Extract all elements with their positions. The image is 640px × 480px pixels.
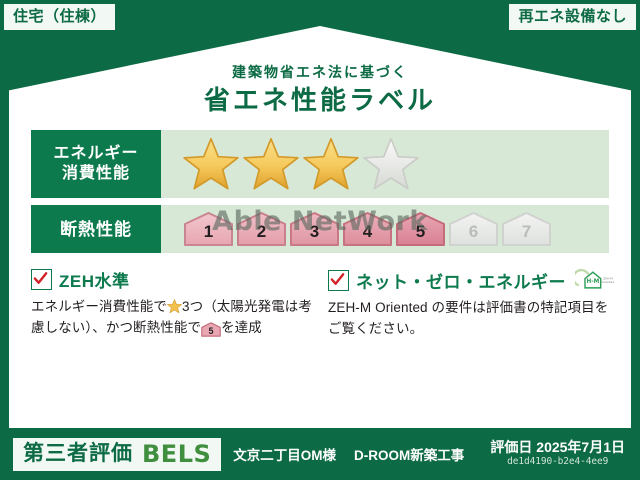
- net-zero-energy-body: ZEH-M Oriented の要件は評価書の特記項目をご覧ください。: [328, 298, 609, 339]
- footer-evaluation-id: de1d4190-b2e4-4ee9: [490, 456, 625, 468]
- star-icon-filled-3: [303, 137, 359, 191]
- zeh-body-part3: を達成: [221, 320, 262, 335]
- building-type-tag: 住宅（住棟）: [4, 4, 115, 30]
- grade-badge-4: 4: [342, 211, 393, 247]
- energy-label-line2: 消費性能: [62, 164, 130, 184]
- grade-badge-2-value: 2: [257, 222, 266, 247]
- insulation-performance-label: 断熱性能: [31, 205, 161, 253]
- footer-project-info: 文京二丁目OM様 D-ROOM新築工事: [233, 444, 464, 464]
- label-heading: 建築物省エネ法に基づく 省エネ性能ラベル: [31, 64, 609, 116]
- renewable-equipment-tag: 再エネ設備なし: [509, 4, 636, 30]
- bels-en-label: BELS: [142, 442, 211, 466]
- zeh-standard-body: エネルギー消費性能で3つ（太陽光発電は考慮しない）、かつ断熱性能で5を達成: [31, 297, 312, 338]
- insulation-grade-scale: 1 2 3 4: [161, 205, 609, 253]
- energy-performance-label: エネルギー 消費性能: [31, 130, 161, 198]
- grade-badge-7: 7: [501, 211, 552, 247]
- footer-project: D-ROOM新築工事: [354, 444, 464, 464]
- star-icon-inline: [167, 299, 182, 314]
- net-zero-energy-title: ネット・ゼロ・エネルギー: [356, 268, 566, 293]
- heading-title: 省エネ性能ラベル: [31, 84, 609, 117]
- house-panel: 建築物省エネ法に基づく 省エネ性能ラベル エネルギー 消費性能: [9, 26, 631, 428]
- energy-star-rating: [161, 130, 609, 198]
- star-icon-filled-1: [183, 137, 239, 191]
- grade-badge-6-value: 6: [469, 222, 478, 247]
- footer-evaluation-info: 評価日 2025年7月1日 de1d4190-b2e4-4ee9: [490, 439, 631, 468]
- energy-label-line1: エネルギー: [53, 144, 138, 164]
- footer-owner: 文京二丁目OM様: [233, 444, 336, 464]
- heading-subtitle: 建築物省エネ法に基づく: [31, 64, 609, 81]
- svg-text:H-M: H-M: [586, 280, 599, 286]
- check-icon-nze: [328, 270, 349, 291]
- grade-badge-5: 5: [395, 211, 446, 247]
- grade-badge-6: 6: [448, 211, 499, 247]
- net-zero-energy-note: ネット・ゼロ・エネルギー H-M ZEH-M Oriented ZEH-M Or…: [328, 267, 609, 339]
- energy-performance-label: 住宅（住棟） 再エネ設備なし 建築物省エネ法に基づく 省エネ性能ラベル エネルギ…: [0, 0, 640, 480]
- star-icon-filled-2: [243, 137, 299, 191]
- grade-badge-1: 1: [183, 211, 234, 247]
- grade-badge-inline-value: 5: [201, 322, 221, 340]
- grade-badge-2: 2: [236, 211, 287, 247]
- grade-badge-7-value: 7: [522, 222, 531, 247]
- check-icon-zeh: [31, 269, 52, 290]
- footer-bar: 第三者評価 BELS 文京二丁目OM様 D-ROOM新築工事 評価日 2025年…: [9, 434, 631, 474]
- grade-badge-3: 3: [289, 211, 340, 247]
- zeh-standard-note: ZEH水準 エネルギー消費性能で3つ（太陽光発電は考慮しない）、かつ断熱性能で5…: [31, 267, 312, 339]
- grade-badge-inline: 5: [201, 322, 221, 337]
- bels-jp-label: 第三者評価: [23, 443, 133, 464]
- grade-badge-5-value: 5: [416, 222, 425, 247]
- svg-text:Oriented: Oriented: [602, 280, 615, 284]
- zeh-m-oriented-logo-icon: H-M ZEH-M Oriented: [575, 267, 615, 293]
- energy-performance-row: エネルギー 消費性能: [31, 130, 609, 198]
- star-icon-empty-4: [363, 137, 419, 191]
- zeh-standard-title: ZEH水準: [59, 267, 130, 292]
- insulation-performance-row: 断熱性能 1 2: [31, 205, 609, 253]
- grade-badge-4-value: 4: [363, 222, 372, 247]
- grade-badge-3-value: 3: [310, 222, 319, 247]
- notes-section: ZEH水準 エネルギー消費性能で3つ（太陽光発電は考慮しない）、かつ断熱性能で5…: [31, 267, 609, 339]
- footer-evaluation-date: 評価日 2025年7月1日: [490, 439, 625, 455]
- performance-block: エネルギー 消費性能: [31, 130, 609, 253]
- zeh-body-part1: エネルギー消費性能で: [31, 299, 167, 314]
- grade-badge-1-value: 1: [204, 222, 213, 247]
- bels-certification-tag: 第三者評価 BELS: [13, 438, 221, 471]
